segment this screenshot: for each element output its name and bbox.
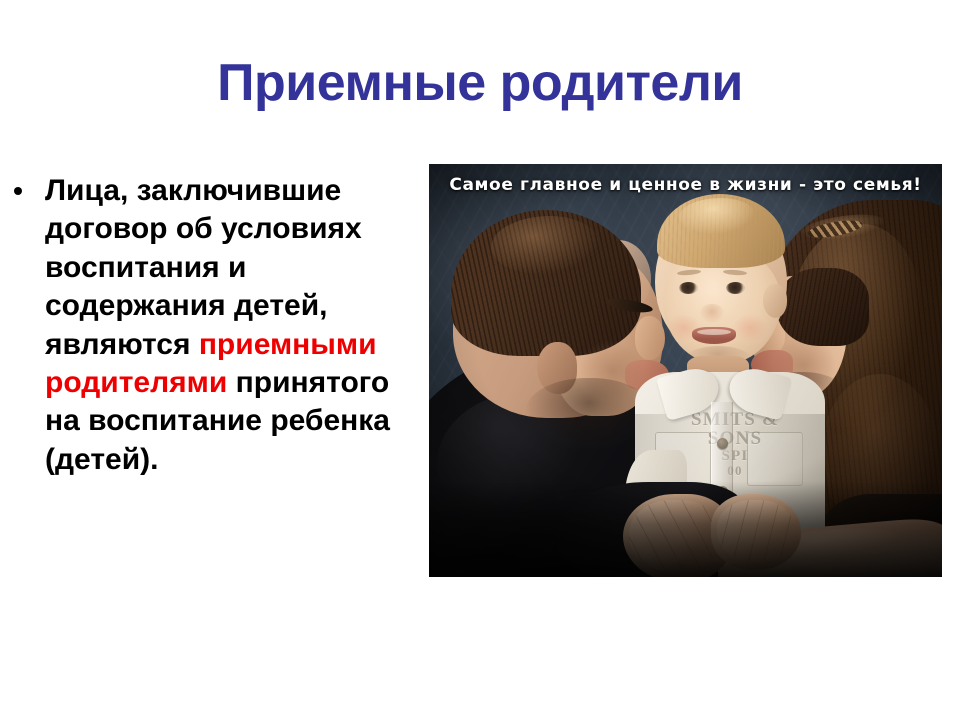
photo-caption: Самое главное и ценное в жизни - это сем…	[429, 174, 942, 196]
presentation-slide: Приемные родители Лица, заключившие дого…	[0, 0, 960, 720]
bullet-dot-icon	[14, 187, 22, 195]
bullet-paragraph: Лица, заключившие договор об условиях во…	[45, 172, 426, 479]
photo-vignette	[429, 164, 942, 577]
family-photo: SMITS & SONS SPI 00 Самое главное и ценн…	[429, 164, 942, 577]
body-text-block: Лица, заключившие договор об условиях во…	[8, 172, 426, 479]
list-item: Лица, заключившие договор об условиях во…	[8, 172, 426, 479]
page-title: Приемные родители	[0, 52, 960, 114]
